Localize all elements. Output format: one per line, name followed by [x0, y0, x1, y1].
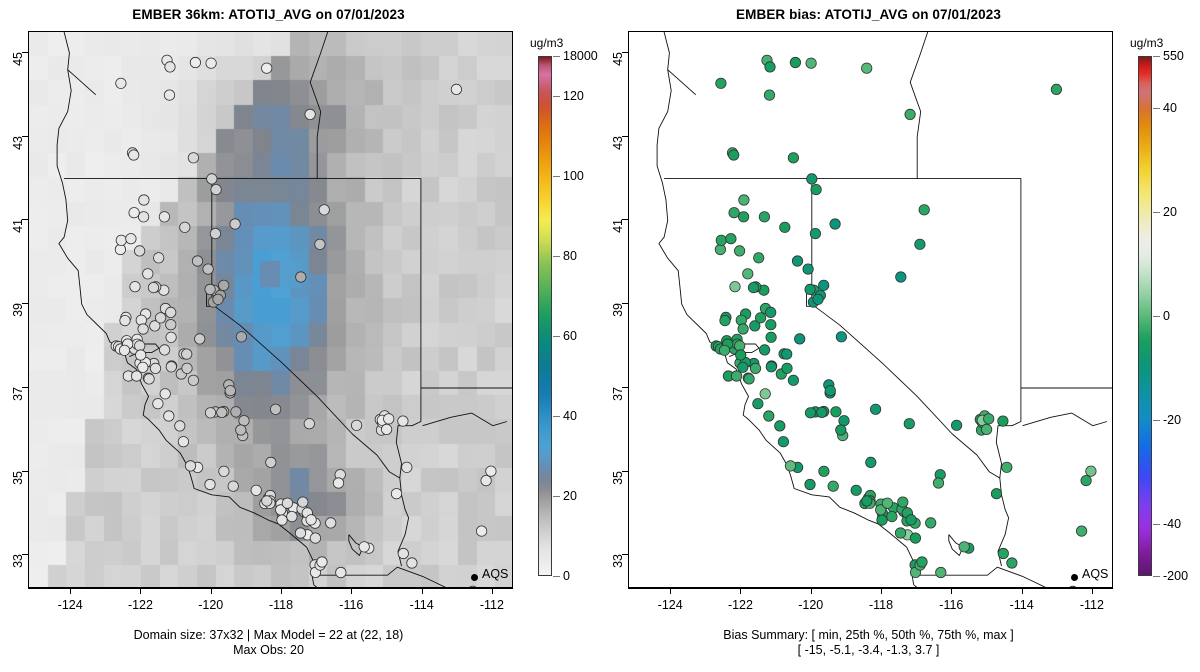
x-tick — [492, 588, 493, 594]
aqs-site-marker[interactable] — [319, 205, 329, 215]
aqs-site-marker[interactable] — [333, 478, 343, 488]
aqs-site-marker[interactable] — [919, 205, 929, 215]
aqs-site-marker[interactable] — [862, 496, 872, 506]
aqs-site-marker[interactable] — [206, 58, 216, 68]
aqs-site-marker[interactable] — [138, 362, 148, 372]
aqs-site-marker[interactable] — [729, 150, 739, 160]
aqs-site-marker[interactable] — [915, 239, 925, 249]
aqs-site-marker[interactable] — [236, 425, 246, 435]
aqs-site-marker[interactable] — [1081, 475, 1091, 485]
aqs-site-marker[interactable] — [910, 533, 920, 543]
x-tick — [1092, 588, 1093, 594]
colorbar-tick — [1153, 420, 1160, 421]
y-tick-label: 43 — [11, 136, 25, 150]
aqs-site-marker[interactable] — [130, 282, 140, 292]
aqs-site-marker[interactable] — [296, 272, 306, 282]
colorbar-tick — [553, 256, 560, 257]
aqs-site-marker[interactable] — [998, 416, 1008, 426]
x-axis-model — [28, 588, 513, 589]
colorbar-units-bias: ug/m3 — [1130, 36, 1163, 50]
aqs-site-marker[interactable] — [159, 212, 169, 222]
aqs-site-marker[interactable] — [310, 533, 320, 543]
colorbar-tick-label: 60 — [563, 329, 577, 343]
aqs-site-marker[interactable] — [760, 389, 770, 399]
aqs-legend-label-bias: AQS — [1082, 567, 1108, 581]
aqs-site-marker[interactable] — [936, 567, 946, 577]
aqs-site-marker[interactable] — [211, 184, 221, 194]
aqs-site-marker[interactable] — [836, 332, 846, 342]
aqs-site-marker[interactable] — [870, 404, 880, 414]
x-tick — [881, 588, 882, 594]
aqs-site-marker[interactable] — [407, 558, 417, 568]
x-tick-label: -114 — [410, 598, 434, 612]
aqs-site-marker[interactable] — [744, 374, 754, 384]
aqs-site-marker[interactable] — [143, 269, 153, 279]
x-tick-label: -122 — [128, 598, 153, 612]
aqs-site-marker[interactable] — [188, 153, 198, 163]
aqs-site-marker[interactable] — [803, 264, 813, 274]
aqs-observation-markers-model[interactable] — [29, 32, 513, 588]
aqs-site-marker[interactable] — [315, 239, 325, 249]
y-axis-bias — [628, 31, 629, 588]
colorbar-gradient-model — [538, 56, 552, 576]
aqs-site-marker[interactable] — [129, 208, 139, 218]
aqs-site-marker[interactable] — [719, 345, 729, 355]
aqs-site-marker[interactable] — [486, 466, 496, 476]
aqs-site-marker[interactable] — [755, 313, 765, 323]
aqs-legend-label-model: AQS — [482, 567, 508, 581]
aqs-site-marker[interactable] — [735, 341, 745, 351]
aqs-site-marker[interactable] — [738, 324, 748, 334]
x-tick — [211, 588, 212, 594]
caption-line2-bias: [ -15, -5.1, -3.4, -1.3, 3.7 ] — [600, 643, 1137, 658]
aqs-site-marker[interactable] — [877, 515, 887, 525]
aqs-site-marker[interactable] — [277, 515, 287, 525]
colorbar-tick-label: 40 — [563, 409, 577, 423]
aqs-site-marker[interactable] — [780, 222, 790, 232]
caption-line1-bias: Bias Summary: [ min, 25th %, 50th %, 75t… — [600, 628, 1137, 643]
aqs-site-marker[interactable] — [262, 63, 272, 73]
aqs-site-marker[interactable] — [984, 414, 994, 424]
aqs-site-marker[interactable] — [155, 313, 165, 323]
aqs-site-marker[interactable] — [782, 349, 792, 359]
y-tick-label: 37 — [11, 387, 25, 401]
colorbar-tick — [553, 56, 560, 57]
aqs-site-marker[interactable] — [810, 228, 820, 238]
aqs-site-marker[interactable] — [738, 362, 748, 372]
colorbar-tick-label: -40 — [1163, 517, 1181, 531]
colorbar-tick-label: 120 — [563, 89, 584, 103]
x-tick — [281, 588, 282, 594]
aqs-site-marker[interactable] — [236, 332, 246, 342]
aqs-site-marker[interactable] — [736, 350, 746, 360]
x-tick-label: -112 — [1080, 598, 1104, 612]
aqs-site-marker[interactable] — [298, 497, 308, 507]
aqs-site-marker[interactable] — [819, 280, 829, 290]
colorbar-tick — [553, 96, 560, 97]
aqs-site-marker[interactable] — [766, 320, 776, 330]
aqs-site-marker[interactable] — [759, 345, 769, 355]
y-tick-label: 41 — [11, 219, 25, 233]
aqs-site-marker[interactable] — [304, 419, 314, 429]
aqs-site-marker[interactable] — [217, 407, 227, 417]
aqs-site-marker[interactable] — [904, 419, 914, 429]
panel-title-bias: EMBER bias: ATOTIJ_AVG on 07/01/2023 — [600, 7, 1137, 22]
aqs-site-marker[interactable] — [788, 153, 798, 163]
aqs-site-marker[interactable] — [287, 511, 297, 521]
aqs-site-marker[interactable] — [807, 174, 817, 184]
aqs-site-marker[interactable] — [144, 374, 154, 384]
aqs-site-marker[interactable] — [219, 280, 229, 290]
aqs-site-marker[interactable] — [933, 478, 943, 488]
aqs-site-marker[interactable] — [766, 307, 776, 317]
aqs-site-marker[interactable] — [166, 362, 176, 372]
x-tick — [670, 588, 671, 594]
x-tick-label: -124 — [58, 598, 83, 612]
colorbar-tick-label: 0 — [563, 569, 570, 583]
colorbar-tick-label: -20 — [1163, 413, 1181, 427]
map-plot-model[interactable]: AQS — [28, 31, 513, 588]
aqs-site-marker[interactable] — [805, 479, 815, 489]
aqs-site-marker[interactable] — [139, 195, 149, 205]
y-tick-label: 37 — [611, 387, 625, 401]
y-tick-label: 35 — [11, 471, 25, 485]
panel-bias: EMBER bias: ATOTIJ_AVG on 07/01/2023 AQS… — [600, 0, 1200, 672]
aqs-site-marker[interactable] — [166, 332, 176, 342]
aqs-site-marker[interactable] — [731, 371, 741, 381]
x-tick — [1022, 588, 1023, 594]
aqs-site-marker[interactable] — [750, 363, 760, 373]
aqs-site-marker[interactable] — [154, 253, 164, 263]
aqs-site-marker[interactable] — [119, 345, 129, 355]
aqs-site-marker[interactable] — [819, 466, 829, 476]
aqs-site-marker[interactable] — [828, 481, 838, 491]
aqs-site-marker[interactable] — [991, 489, 1001, 499]
aqs-site-marker[interactable] — [743, 269, 753, 279]
aqs-site-marker[interactable] — [381, 424, 391, 434]
aqs-site-marker[interactable] — [896, 272, 906, 282]
aqs-site-marker[interactable] — [336, 567, 346, 577]
aqs-site-marker[interactable] — [716, 78, 726, 88]
colorbar-tick — [1153, 316, 1160, 317]
aqs-site-marker[interactable] — [839, 416, 849, 426]
aqs-site-marker[interactable] — [195, 334, 205, 344]
aqs-site-marker[interactable] — [998, 548, 1008, 558]
aqs-site-marker[interactable] — [730, 282, 740, 292]
y-tick-label: 45 — [11, 52, 25, 66]
aqs-site-marker[interactable] — [451, 84, 461, 94]
aqs-site-marker[interactable] — [1002, 462, 1012, 472]
aqs-site-marker[interactable] — [317, 557, 327, 567]
colorbar-tick — [553, 416, 560, 417]
y-tick-label: 33 — [11, 554, 25, 568]
aqs-site-marker[interactable] — [148, 282, 158, 292]
colorbar-gradient-bias — [1138, 56, 1152, 576]
aqs-site-marker[interactable] — [766, 362, 776, 372]
aqs-site-marker[interactable] — [398, 548, 408, 558]
aqs-site-marker[interactable] — [778, 437, 788, 447]
aqs-site-marker[interactable] — [266, 457, 276, 467]
caption-line2-model: Max Obs: 20 — [0, 643, 537, 658]
aqs-site-marker[interactable] — [180, 222, 190, 232]
aqs-site-marker[interactable] — [160, 389, 170, 399]
aqs-site-marker[interactable] — [138, 212, 148, 222]
x-tick — [351, 588, 352, 594]
aqs-site-marker[interactable] — [126, 234, 136, 244]
aqs-site-marker[interactable] — [1086, 466, 1096, 476]
aqs-site-marker[interactable] — [131, 371, 141, 381]
aqs-site-marker[interactable] — [295, 528, 305, 538]
aqs-site-marker[interactable] — [716, 235, 726, 245]
y-tick-label: 39 — [11, 303, 25, 317]
colorbar-bias: ug/m3 55040200-20-40-200 — [1128, 31, 1198, 588]
aqs-site-marker[interactable] — [811, 184, 821, 194]
aqs-site-marker[interactable] — [720, 315, 730, 325]
aqs-site-marker[interactable] — [165, 62, 175, 72]
colorbar-tick-label: 0 — [1163, 309, 1170, 323]
aqs-site-marker[interactable] — [754, 253, 764, 263]
aqs-site-marker[interactable] — [402, 462, 412, 472]
aqs-site-marker[interactable] — [188, 375, 198, 385]
aqs-site-marker[interactable] — [785, 461, 795, 471]
aqs-site-marker[interactable] — [116, 78, 126, 88]
x-tick — [140, 588, 141, 594]
aqs-site-marker[interactable] — [759, 212, 769, 222]
x-tick-label: -120 — [798, 598, 823, 612]
x-tick-label: -116 — [339, 598, 363, 612]
aqs-site-marker[interactable] — [905, 109, 915, 119]
aqs-site-marker[interactable] — [136, 350, 146, 360]
aqs-site-marker[interactable] — [866, 457, 876, 467]
aqs-site-marker[interactable] — [792, 256, 802, 266]
aqs-site-marker[interactable] — [715, 244, 725, 254]
panel-title-model: EMBER 36km: ATOTIJ_AVG on 07/01/2023 — [0, 7, 537, 22]
aqs-site-marker[interactable] — [917, 557, 927, 567]
colorbar-tick-label: 40 — [1163, 101, 1177, 115]
x-tick — [740, 588, 741, 594]
aqs-site-marker[interactable] — [813, 294, 823, 304]
aqs-site-marker[interactable] — [862, 63, 872, 73]
aqs-site-marker[interactable] — [391, 489, 401, 499]
aqs-site-marker[interactable] — [729, 208, 739, 218]
y-tick-label: 39 — [611, 303, 625, 317]
colorbar-tick-label: 80 — [563, 249, 577, 263]
colorbar-tick — [553, 176, 560, 177]
aqs-site-marker[interactable] — [164, 90, 174, 100]
x-tick-label: -112 — [480, 598, 504, 612]
colorbar-tick-label: 550 — [1163, 49, 1184, 63]
aqs-site-marker[interactable] — [806, 58, 816, 68]
aqs-site-marker[interactable] — [230, 219, 240, 229]
aqs-site-marker[interactable] — [795, 334, 805, 344]
aqs-site-marker[interactable] — [882, 498, 892, 508]
aqs-site-marker[interactable] — [726, 234, 736, 244]
colorbar-tick-label: -200 — [1163, 569, 1188, 583]
aqs-site-marker[interactable] — [766, 332, 776, 342]
aqs-site-marker[interactable] — [398, 416, 408, 426]
x-tick — [811, 588, 812, 594]
colorbar-model: ug/m3 18000120100806040200 — [528, 31, 598, 588]
aqs-bias-markers[interactable] — [629, 32, 1113, 588]
x-tick — [951, 588, 952, 594]
aqs-site-marker[interactable] — [831, 407, 841, 417]
aqs-site-marker[interactable] — [225, 386, 235, 396]
aqs-site-marker[interactable] — [887, 511, 897, 521]
caption-line1-model: Domain size: 37x32 | Max Model = 22 at (… — [0, 628, 537, 643]
x-tick-label: -118 — [269, 598, 293, 612]
aqs-site-marker[interactable] — [895, 528, 905, 538]
aqs-site-marker[interactable] — [384, 414, 394, 424]
colorbar-tick-label: 20 — [1163, 205, 1177, 219]
y-axis-model — [28, 31, 29, 588]
aqs-site-marker[interactable] — [175, 421, 185, 431]
aqs-site-marker[interactable] — [203, 264, 213, 274]
aqs-site-marker[interactable] — [326, 518, 336, 528]
aqs-site-marker[interactable] — [129, 150, 139, 160]
aqs-site-marker[interactable] — [926, 518, 936, 528]
aqs-site-marker[interactable] — [282, 498, 292, 508]
aqs-site-marker[interactable] — [159, 345, 169, 355]
aqs-site-marker[interactable] — [476, 526, 486, 536]
aqs-legend-dot-model — [471, 574, 478, 581]
colorbar-tick-label: 18000 — [563, 49, 598, 63]
aqs-site-marker[interactable] — [210, 228, 220, 238]
aqs-site-marker[interactable] — [788, 375, 798, 385]
aqs-site-marker[interactable] — [836, 425, 846, 435]
colorbar-tick-label: 100 — [563, 169, 584, 183]
colorbar-units-model: ug/m3 — [530, 36, 563, 50]
aqs-site-marker[interactable] — [734, 246, 744, 256]
x-tick-label: -120 — [198, 598, 223, 612]
aqs-site-marker[interactable] — [790, 57, 800, 67]
colorbar-tick — [1153, 576, 1160, 577]
aqs-site-marker[interactable] — [231, 407, 241, 417]
aqs-site-marker[interactable] — [205, 408, 215, 418]
panel-model: EMBER 36km: ATOTIJ_AVG on 07/01/2023 AQS… — [0, 0, 600, 672]
aqs-site-marker[interactable] — [1007, 558, 1017, 568]
aqs-site-marker[interactable] — [115, 244, 125, 254]
aqs-site-marker[interactable] — [120, 315, 130, 325]
aqs-site-marker[interactable] — [205, 284, 215, 294]
aqs-site-marker[interactable] — [739, 195, 749, 205]
y-tick-label: 33 — [611, 554, 625, 568]
aqs-site-marker[interactable] — [219, 466, 229, 476]
aqs-site-marker[interactable] — [481, 475, 491, 485]
map-plot-bias[interactable]: AQS — [628, 31, 1113, 588]
aqs-site-marker[interactable] — [1051, 84, 1061, 94]
colorbar-tick — [1153, 524, 1160, 525]
aqs-site-marker[interactable] — [775, 421, 785, 431]
aqs-site-marker[interactable] — [150, 363, 160, 373]
aqs-site-marker[interactable] — [830, 219, 840, 229]
y-tick-label: 35 — [611, 471, 625, 485]
aqs-site-marker[interactable] — [351, 420, 361, 430]
aqs-site-marker[interactable] — [182, 349, 192, 359]
colorbar-tick — [1153, 56, 1160, 57]
aqs-site-marker[interactable] — [959, 542, 969, 552]
colorbar-tick — [553, 496, 560, 497]
aqs-site-marker[interactable] — [205, 479, 215, 489]
aqs-site-marker[interactable] — [738, 212, 748, 222]
x-axis-bias — [628, 588, 1113, 589]
aqs-site-marker[interactable] — [190, 57, 200, 67]
aqs-site-marker[interactable] — [251, 485, 261, 495]
aqs-site-marker[interactable] — [164, 411, 174, 421]
aqs-site-marker[interactable] — [825, 386, 835, 396]
y-tick-label: 43 — [611, 136, 625, 150]
aqs-site-marker[interactable] — [134, 246, 144, 256]
x-tick-label: -124 — [658, 598, 683, 612]
aqs-site-marker[interactable] — [359, 542, 369, 552]
aqs-site-marker[interactable] — [178, 437, 188, 447]
aqs-site-marker[interactable] — [817, 407, 827, 417]
aqs-legend-dot-bias — [1071, 574, 1078, 581]
x-tick-label: -118 — [869, 598, 893, 612]
aqs-site-marker[interactable] — [182, 363, 192, 373]
aqs-site-marker[interactable] — [305, 109, 315, 119]
aqs-site-marker[interactable] — [116, 235, 126, 245]
colorbar-tick — [553, 336, 560, 337]
aqs-site-marker[interactable] — [764, 90, 774, 100]
x-tick-label: -116 — [939, 598, 963, 612]
aqs-site-marker[interactable] — [782, 363, 792, 373]
y-tick-label: 45 — [611, 52, 625, 66]
x-tick — [70, 588, 71, 594]
aqs-site-marker[interactable] — [306, 515, 316, 525]
figure-root: EMBER 36km: ATOTIJ_AVG on 07/01/2023 AQS… — [0, 0, 1200, 672]
aqs-site-marker[interactable] — [951, 420, 961, 430]
aqs-site-marker[interactable] — [1076, 526, 1086, 536]
aqs-site-marker[interactable] — [166, 307, 176, 317]
aqs-site-marker[interactable] — [262, 496, 272, 506]
aqs-site-marker[interactable] — [138, 324, 148, 334]
aqs-site-marker[interactable] — [764, 411, 774, 421]
colorbar-tick — [1153, 212, 1160, 213]
aqs-site-marker[interactable] — [228, 481, 238, 491]
aqs-site-marker[interactable] — [192, 256, 202, 266]
colorbar-tick — [553, 576, 560, 577]
colorbar-tick-label: 20 — [563, 489, 577, 503]
aqs-site-marker[interactable] — [166, 320, 176, 330]
aqs-site-marker[interactable] — [765, 62, 775, 72]
x-tick-label: -114 — [1010, 598, 1034, 612]
aqs-site-marker[interactable] — [270, 404, 280, 414]
y-tick-label: 41 — [611, 219, 625, 233]
aqs-site-marker[interactable] — [851, 485, 861, 495]
aqs-site-marker[interactable] — [135, 341, 145, 351]
aqs-site-marker[interactable] — [213, 294, 223, 304]
aqs-site-marker[interactable] — [753, 399, 763, 409]
aqs-site-marker[interactable] — [981, 424, 991, 434]
aqs-site-marker[interactable] — [239, 416, 249, 426]
aqs-site-marker[interactable] — [207, 174, 217, 184]
aqs-site-marker[interactable] — [805, 408, 815, 418]
colorbar-tick — [1153, 108, 1160, 109]
x-tick — [422, 588, 423, 594]
aqs-site-marker[interactable] — [153, 399, 163, 409]
aqs-site-marker[interactable] — [898, 497, 908, 507]
aqs-site-marker[interactable] — [185, 461, 195, 471]
x-tick-label: -122 — [728, 598, 753, 612]
aqs-site-marker[interactable] — [748, 282, 758, 292]
aqs-site-marker[interactable] — [805, 284, 815, 294]
aqs-site-marker[interactable] — [906, 515, 916, 525]
